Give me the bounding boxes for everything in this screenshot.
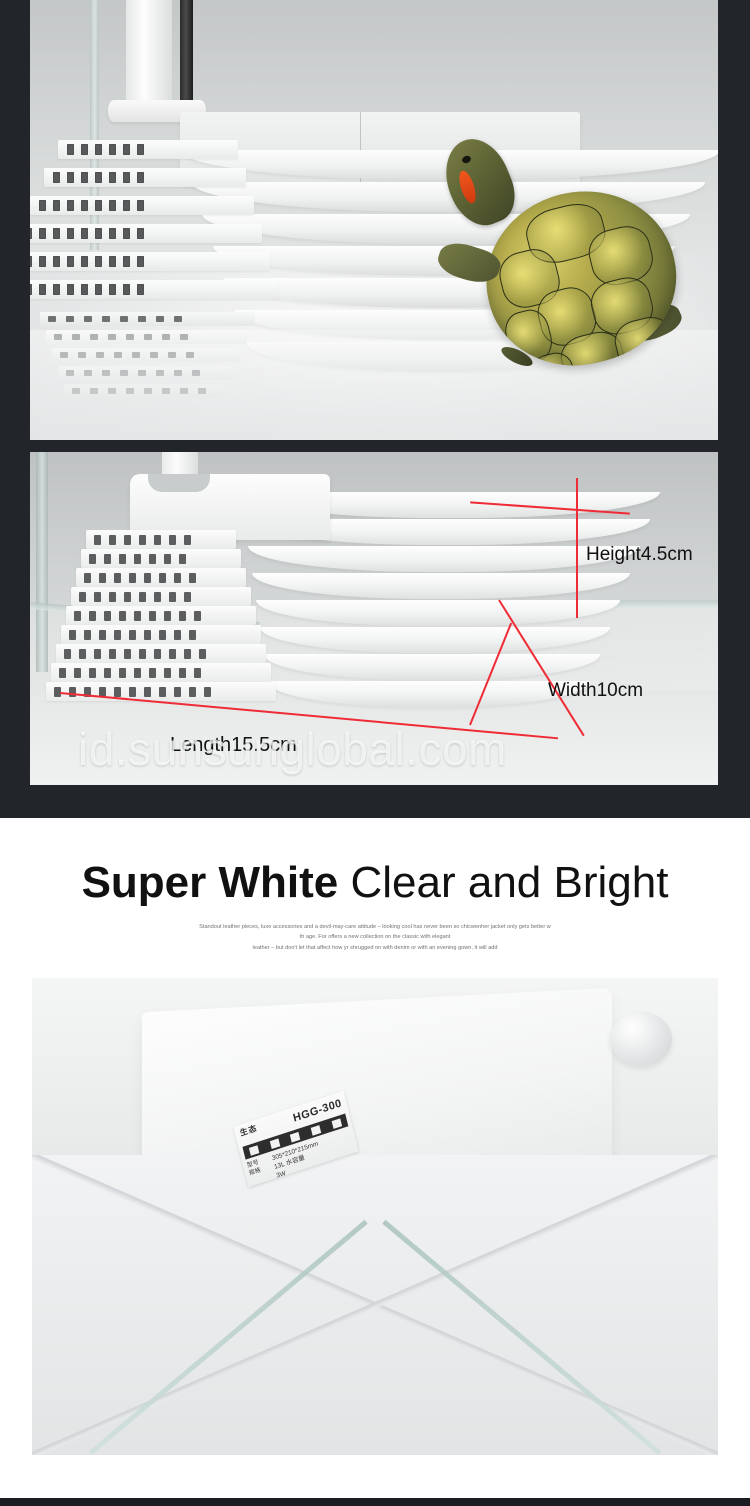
vent-hole xyxy=(81,172,88,183)
vent-hole xyxy=(169,535,176,545)
subcopy-line-3: leather – but don't let that affect how … xyxy=(135,943,615,953)
stair-row xyxy=(46,682,276,701)
vent-hole xyxy=(137,144,144,155)
vent-hole xyxy=(95,200,102,211)
vent-hole xyxy=(124,592,131,602)
vent-hole xyxy=(154,592,161,602)
stair-row xyxy=(30,224,262,243)
vent-hole xyxy=(114,630,121,640)
step xyxy=(252,573,630,599)
vent-hole xyxy=(39,256,46,267)
vent-hole xyxy=(137,256,144,267)
vent-hole xyxy=(204,687,211,697)
stair-row xyxy=(81,549,241,568)
stair-row xyxy=(66,606,256,625)
vent-hole xyxy=(95,172,102,183)
vent-hole xyxy=(95,256,102,267)
section-headline: Super White Clear and Bright xyxy=(0,860,750,906)
photo-dimension-diagram: Height4.5cm Width10cm Length15.5cm id.su… xyxy=(30,452,718,785)
vent-hole xyxy=(95,144,102,155)
stair-row xyxy=(58,140,238,159)
vent-hole xyxy=(199,649,206,659)
vent-hole xyxy=(120,316,128,322)
vent-hole xyxy=(154,535,161,545)
vent-hole xyxy=(114,573,121,583)
vent-hole xyxy=(67,284,74,295)
vent-hole xyxy=(104,611,111,621)
vent-hole xyxy=(67,256,74,267)
vent-hole xyxy=(134,611,141,621)
photo-glass-tank: 生态 HGG-300 型号 规格 305*210*215mm 13L 水容量 3… xyxy=(32,978,718,1455)
vent-hole xyxy=(119,668,126,678)
perforated-stair-block xyxy=(86,530,286,700)
stair-row xyxy=(56,644,266,663)
glass-edge-left xyxy=(36,452,48,672)
vent-hole xyxy=(174,573,181,583)
vent-hole xyxy=(137,200,144,211)
vent-hole xyxy=(179,611,186,621)
vent-hole xyxy=(74,611,81,621)
vent-hole xyxy=(99,573,106,583)
vent-hole xyxy=(154,649,161,659)
vent-hole xyxy=(114,687,121,697)
vent-hole xyxy=(109,144,116,155)
step xyxy=(248,546,640,572)
subcopy-line-2: th age. For offers a new collection on t… xyxy=(135,932,615,942)
vent-hole xyxy=(144,630,151,640)
width-label: Width10cm xyxy=(548,680,643,702)
vent-hole xyxy=(159,573,166,583)
vent-hole xyxy=(104,554,111,564)
step xyxy=(264,654,600,680)
vent-hole xyxy=(138,316,146,322)
vent-hole xyxy=(89,611,96,621)
vent-hole xyxy=(81,200,88,211)
vent-hole xyxy=(123,200,130,211)
vent-hole xyxy=(134,554,141,564)
vent-hole xyxy=(144,687,151,697)
perforated-stair-block xyxy=(58,140,288,315)
watermark-text: id.sunsunglobal.com xyxy=(78,722,507,776)
tank-corner-glass xyxy=(32,1155,718,1455)
vent-hole xyxy=(129,573,136,583)
sticker-side-line-2: 规格 xyxy=(248,1167,261,1179)
step xyxy=(260,627,610,653)
subcopy-line-1: Standout leather pieces, luxe accessorie… xyxy=(135,922,615,932)
vent-hole xyxy=(89,554,96,564)
stair-row xyxy=(61,625,261,644)
vent-hole xyxy=(134,668,141,678)
dark-hero-section: Height4.5cm Width10cm Length15.5cm id.su… xyxy=(0,0,750,818)
vent-hole xyxy=(81,144,88,155)
vent-hole xyxy=(194,668,201,678)
step xyxy=(256,600,620,626)
vent-hole xyxy=(53,228,60,239)
vent-hole xyxy=(67,144,74,155)
stair-row xyxy=(76,568,246,587)
vent-hole xyxy=(53,256,60,267)
vent-hole xyxy=(149,554,156,564)
vent-hole xyxy=(39,200,46,211)
vent-hole xyxy=(144,573,151,583)
vent-hole xyxy=(109,649,116,659)
height-dimension-line xyxy=(576,478,578,618)
vent-hole xyxy=(94,592,101,602)
vent-hole xyxy=(99,630,106,640)
vent-hole xyxy=(189,573,196,583)
vent-hole xyxy=(94,535,101,545)
vent-hole xyxy=(59,668,66,678)
vent-hole xyxy=(66,316,74,322)
vent-hole xyxy=(179,554,186,564)
ramp-row xyxy=(40,312,255,326)
vent-hole xyxy=(84,630,91,640)
filter-hose xyxy=(180,0,193,105)
vent-hole xyxy=(164,668,171,678)
vent-hole xyxy=(67,228,74,239)
vent-hole xyxy=(124,535,131,545)
vent-hole xyxy=(109,592,116,602)
turtle xyxy=(430,136,700,386)
vent-hole xyxy=(129,630,136,640)
height-label: Height4.5cm xyxy=(586,544,693,566)
vent-hole xyxy=(156,316,164,322)
vent-hole xyxy=(194,611,201,621)
stair-row xyxy=(71,587,251,606)
vent-hole xyxy=(123,172,130,183)
vent-hole xyxy=(174,687,181,697)
vent-hole xyxy=(94,649,101,659)
vent-hole xyxy=(184,592,191,602)
product-detail-page: Height4.5cm Width10cm Length15.5cm id.su… xyxy=(0,0,750,1506)
vent-hole xyxy=(84,316,92,322)
vent-hole xyxy=(64,649,71,659)
vent-hole xyxy=(179,668,186,678)
vent-hole xyxy=(95,284,102,295)
headline-normal: Clear and Bright xyxy=(338,858,668,907)
vent-hole xyxy=(39,228,46,239)
vent-hole xyxy=(69,630,76,640)
vent-hole xyxy=(53,284,60,295)
stair-row xyxy=(30,252,270,271)
vent-hole xyxy=(169,592,176,602)
vent-hole xyxy=(189,630,196,640)
vent-hole xyxy=(164,554,171,564)
stair-row xyxy=(51,663,271,682)
vent-hole xyxy=(109,535,116,545)
vent-hole xyxy=(89,668,96,678)
vent-hole xyxy=(184,649,191,659)
vent-hole xyxy=(174,316,182,322)
vent-hole xyxy=(109,284,116,295)
vent-hole xyxy=(124,649,131,659)
photo-turtle-on-ramp xyxy=(30,0,718,440)
vent-hole xyxy=(81,228,88,239)
vent-hole xyxy=(39,284,46,295)
vent-hole xyxy=(109,256,116,267)
vent-hole xyxy=(53,172,60,183)
vent-hole xyxy=(139,535,146,545)
vent-hole xyxy=(67,172,74,183)
filter-pipe xyxy=(126,0,172,112)
section-subcopy: Standout leather pieces, luxe accessorie… xyxy=(135,922,615,953)
vent-hole xyxy=(79,592,86,602)
headline-bold: Super White xyxy=(82,858,339,907)
sticker-brand: 生态 xyxy=(239,1123,259,1139)
vent-hole xyxy=(81,256,88,267)
vent-hole xyxy=(109,228,116,239)
vent-hole xyxy=(84,573,91,583)
vent-hole xyxy=(81,284,88,295)
ramp-notch xyxy=(148,474,210,492)
stair-row xyxy=(30,196,254,215)
vent-hole xyxy=(30,284,32,295)
vent-hole xyxy=(149,668,156,678)
vent-hole xyxy=(129,687,136,697)
vent-hole xyxy=(95,228,102,239)
vent-hole xyxy=(139,649,146,659)
vent-hole xyxy=(149,611,156,621)
vent-hole xyxy=(184,535,191,545)
stair-row xyxy=(30,280,278,299)
vent-hole xyxy=(159,687,166,697)
vent-hole xyxy=(119,611,126,621)
vent-hole xyxy=(104,668,111,678)
stair-row xyxy=(44,168,246,187)
vent-hole xyxy=(123,228,130,239)
vent-hole xyxy=(30,228,32,239)
white-content-section: Super White Clear and Bright Standout le… xyxy=(0,818,750,1506)
sticker-side-text: 型号 规格 xyxy=(246,1159,261,1179)
vent-hole xyxy=(164,611,171,621)
vent-hole xyxy=(123,256,130,267)
vent-hole xyxy=(139,592,146,602)
vent-hole xyxy=(74,668,81,678)
stair-row xyxy=(86,530,236,549)
step xyxy=(268,681,590,707)
bottom-divider xyxy=(0,1498,750,1506)
tank-knob xyxy=(610,1012,672,1066)
vent-hole xyxy=(109,172,116,183)
vent-hole xyxy=(67,200,74,211)
vent-hole xyxy=(79,649,86,659)
vent-hole xyxy=(109,200,116,211)
vent-hole xyxy=(53,200,60,211)
turtle-head xyxy=(434,130,524,235)
vent-hole xyxy=(169,649,176,659)
vent-hole xyxy=(137,284,144,295)
vent-hole xyxy=(123,284,130,295)
vent-hole xyxy=(119,554,126,564)
vent-hole xyxy=(123,144,130,155)
vent-hole xyxy=(102,316,110,322)
vent-hole xyxy=(48,316,56,322)
vent-hole xyxy=(137,228,144,239)
vent-hole xyxy=(174,630,181,640)
vent-hole xyxy=(159,630,166,640)
vent-hole xyxy=(189,687,196,697)
vent-hole xyxy=(30,256,32,267)
vent-hole xyxy=(137,172,144,183)
